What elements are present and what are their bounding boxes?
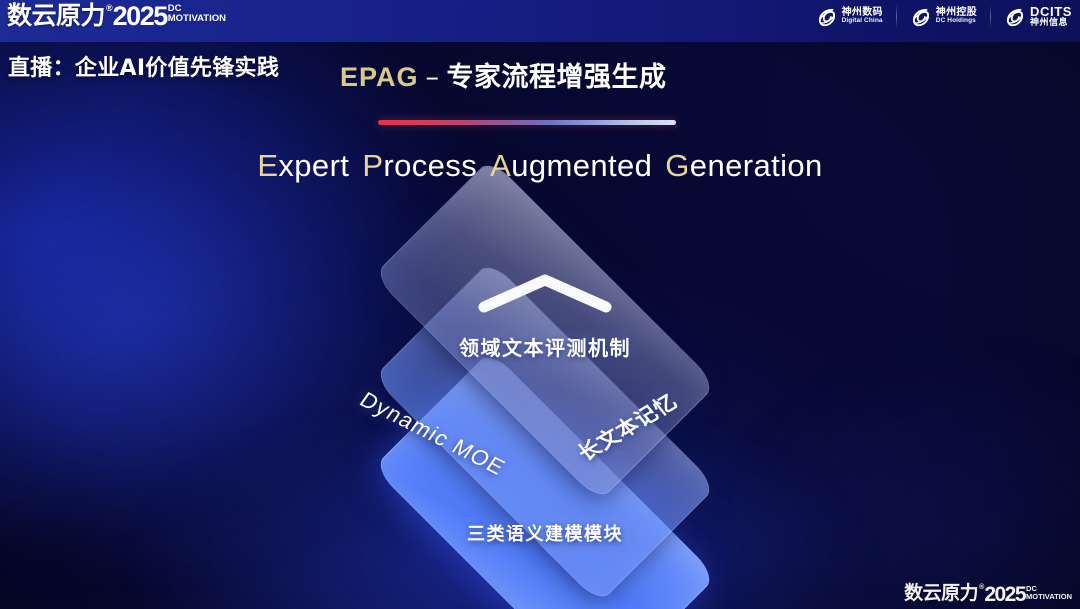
swoosh-logo-icon [1004,6,1026,28]
subtitle-initial: G [665,148,690,183]
partner-text: DCITS 神州信息 [1030,5,1072,28]
subtitle-remainder: rocess [383,148,477,183]
subtitle-remainder: eneration [690,148,823,183]
corner-watermark-logo: 数云原力 ® 2025 DC MOTIVATION [904,584,1072,605]
chevron-up-icon [478,273,612,313]
partner-logo-dc-holdings: 神州控股 DC Holdings [910,6,977,28]
subtitle-word-generation: Generation [665,148,822,183]
partner-divider [896,5,897,28]
layer-bottom-label: 三类语义建模模块 [250,520,840,546]
subtitle-initial: E [257,148,278,183]
brand-motivation-label: MOTIVATION [168,14,226,24]
title-dash: – [426,62,440,93]
partner-name-en: Digital China [842,18,883,25]
watermark-dc-motivation: DC MOTIVATION [1026,585,1072,600]
watermark-motivation-label: MOTIVATION [1026,593,1072,601]
partner-name-en: DC Holdings [936,18,977,25]
partner-text: 神州控股 DC Holdings [936,8,977,25]
top-banner: 数云原力 ® 2025 DC MOTIVATION 神州数码 Digital C… [0,0,1080,42]
subtitle-word-process: Process [362,148,477,183]
brand-year: 2025 [113,3,167,30]
swoosh-logo-icon [816,6,838,28]
page-title: EPAG–专家流程增强生成 [340,55,667,94]
partner-logos: 神州数码 Digital China 神州控股 DC Holdings DCIT… [816,5,1072,28]
partner-logo-digital-china: 神州数码 Digital China [816,6,883,28]
swoosh-logo-icon [910,6,932,28]
partner-divider [990,5,991,28]
watermark-year: 2025 [984,584,1025,605]
partner-name-cn: DCITS [1030,5,1072,19]
partner-logo-dcits: DCITS 神州信息 [1004,5,1072,28]
brand-name-cn: 数云原力 [7,3,105,29]
registered-mark: ® [106,3,113,13]
page-subtitle: ExpertProcessAugmentedGeneration [0,148,1080,184]
partner-name-en: 神州信息 [1030,19,1072,28]
subtitle-initial: P [362,148,383,183]
layer-sheen [374,159,716,501]
layer-stack-diagram: 领域文本评测机制 Dynamic MOE 长文本记忆 三类语义建模模块 [250,200,840,600]
subtitle-remainder: xpert [278,148,349,183]
title-chinese: 专家流程增强生成 [447,62,667,93]
subtitle-remainder: ugmented [511,148,652,183]
subtitle-word-expert: Expert [257,148,349,183]
layer-top-surface [373,158,717,502]
partner-text: 神州数码 Digital China [842,8,883,25]
brand-dc-motivation: DC MOTIVATION [168,4,226,23]
subtitle-word-augmented: Augmented [490,148,652,183]
subtitle-initial: A [490,148,511,183]
watermark-brand-cn: 数云原力 [904,584,978,604]
layer-top-label: 领域文本评测机制 [250,332,840,361]
title-acronym: EPAG [340,62,419,92]
live-broadcast-title: 直播：企业AI价值先锋实践 [8,50,279,82]
title-gradient-rule [378,120,676,125]
brand-logo: 数云原力 ® 2025 DC MOTIVATION [7,3,226,30]
